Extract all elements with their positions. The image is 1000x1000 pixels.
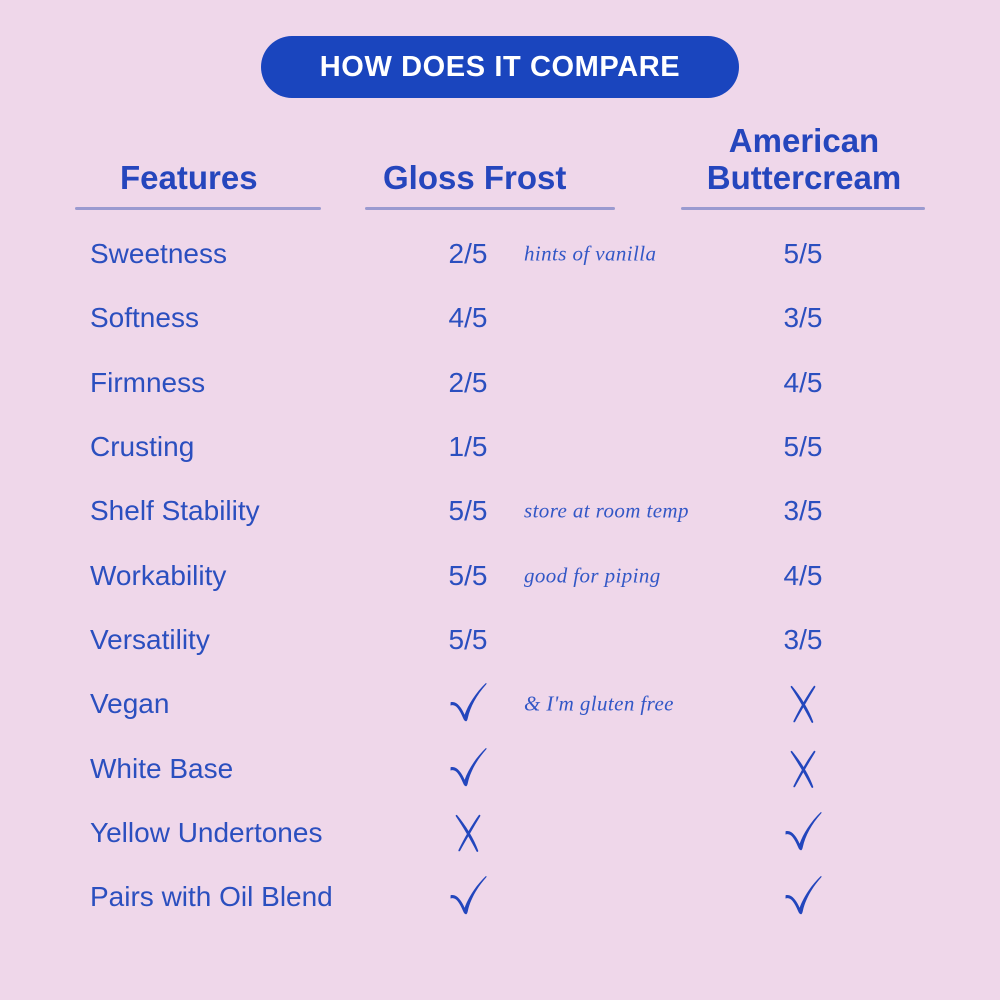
gloss-frost-value — [420, 746, 516, 792]
feature-label: Firmness — [90, 367, 205, 399]
american-buttercream-value — [755, 810, 851, 856]
table-row: Shelf Stability5/5store at room temp3/5 — [0, 479, 1000, 543]
feature-label: Versatility — [90, 624, 210, 656]
table-header-row: Features Gloss Frost AmericanButtercream — [0, 110, 1000, 210]
column-header-line-2: Buttercream — [707, 159, 901, 196]
feature-label: Yellow Undertones — [90, 817, 322, 849]
american-buttercream-value: 4/5 — [755, 560, 851, 592]
table-row: Workability5/5good for piping4/5 — [0, 543, 1000, 607]
column-header-line-1: American — [729, 122, 879, 159]
american-buttercream-value: 3/5 — [755, 302, 851, 334]
handwritten-note: & I'm gluten free — [524, 692, 674, 717]
feature-label: Softness — [90, 302, 199, 334]
table-body: Sweetness2/5hints of vanilla5/5Softness4… — [0, 210, 1000, 929]
gloss-frost-value: 2/5 — [420, 367, 516, 399]
check-icon — [781, 810, 825, 856]
header-banner: HOW DOES IT COMPARE — [261, 36, 739, 98]
feature-label: White Base — [90, 753, 233, 785]
cross-icon — [786, 747, 820, 791]
gloss-frost-value — [420, 681, 516, 727]
handwritten-note: hints of vanilla — [524, 242, 656, 267]
gloss-frost-value: 5/5 — [420, 560, 516, 592]
table-row: Crusting1/55/5 — [0, 415, 1000, 479]
american-buttercream-value: 4/5 — [755, 367, 851, 399]
table-row: White Base — [0, 736, 1000, 800]
comparison-page: HOW DOES IT COMPARE Features Gloss Frost… — [0, 0, 1000, 1000]
check-icon — [781, 874, 825, 920]
column-header-american-buttercream: AmericanButtercream — [683, 122, 925, 196]
handwritten-note: store at room temp — [524, 499, 689, 524]
gloss-frost-value: 2/5 — [420, 238, 516, 270]
column-header-features: Features — [120, 159, 258, 196]
table-row: Yellow Undertones — [0, 801, 1000, 865]
gloss-frost-value: 5/5 — [420, 624, 516, 656]
american-buttercream-value — [755, 874, 851, 920]
gloss-frost-value — [420, 874, 516, 920]
feature-label: Workability — [90, 560, 226, 592]
gloss-frost-value: 1/5 — [420, 431, 516, 463]
american-buttercream-value: 3/5 — [755, 624, 851, 656]
gloss-frost-value: 4/5 — [420, 302, 516, 334]
table-row: Softness4/53/5 — [0, 286, 1000, 350]
gloss-frost-value — [420, 811, 516, 855]
american-buttercream-value: 5/5 — [755, 431, 851, 463]
american-buttercream-value — [755, 747, 851, 791]
table-row: Versatility5/53/5 — [0, 608, 1000, 672]
handwritten-note: good for piping — [524, 563, 661, 588]
feature-label: Shelf Stability — [90, 495, 260, 527]
check-icon — [446, 681, 490, 727]
page-title: HOW DOES IT COMPARE — [320, 51, 680, 84]
american-buttercream-value: 5/5 — [755, 238, 851, 270]
feature-label: Crusting — [90, 431, 194, 463]
column-header-gloss-frost: Gloss Frost — [383, 159, 566, 196]
check-icon — [446, 874, 490, 920]
feature-label: Sweetness — [90, 238, 227, 270]
check-icon — [446, 746, 490, 792]
table-row: Firmness2/54/5 — [0, 351, 1000, 415]
table-row: Sweetness2/5hints of vanilla5/5 — [0, 222, 1000, 286]
cross-icon — [786, 682, 820, 726]
american-buttercream-value — [755, 682, 851, 726]
gloss-frost-value: 5/5 — [420, 495, 516, 527]
table-row: Pairs with Oil Blend — [0, 865, 1000, 929]
american-buttercream-value: 3/5 — [755, 495, 851, 527]
feature-label: Vegan — [90, 688, 169, 720]
cross-icon — [451, 811, 485, 855]
comparison-table: Features Gloss Frost AmericanButtercream… — [0, 110, 1000, 929]
feature-label: Pairs with Oil Blend — [90, 881, 333, 913]
table-row: Vegan& I'm gluten free — [0, 672, 1000, 736]
